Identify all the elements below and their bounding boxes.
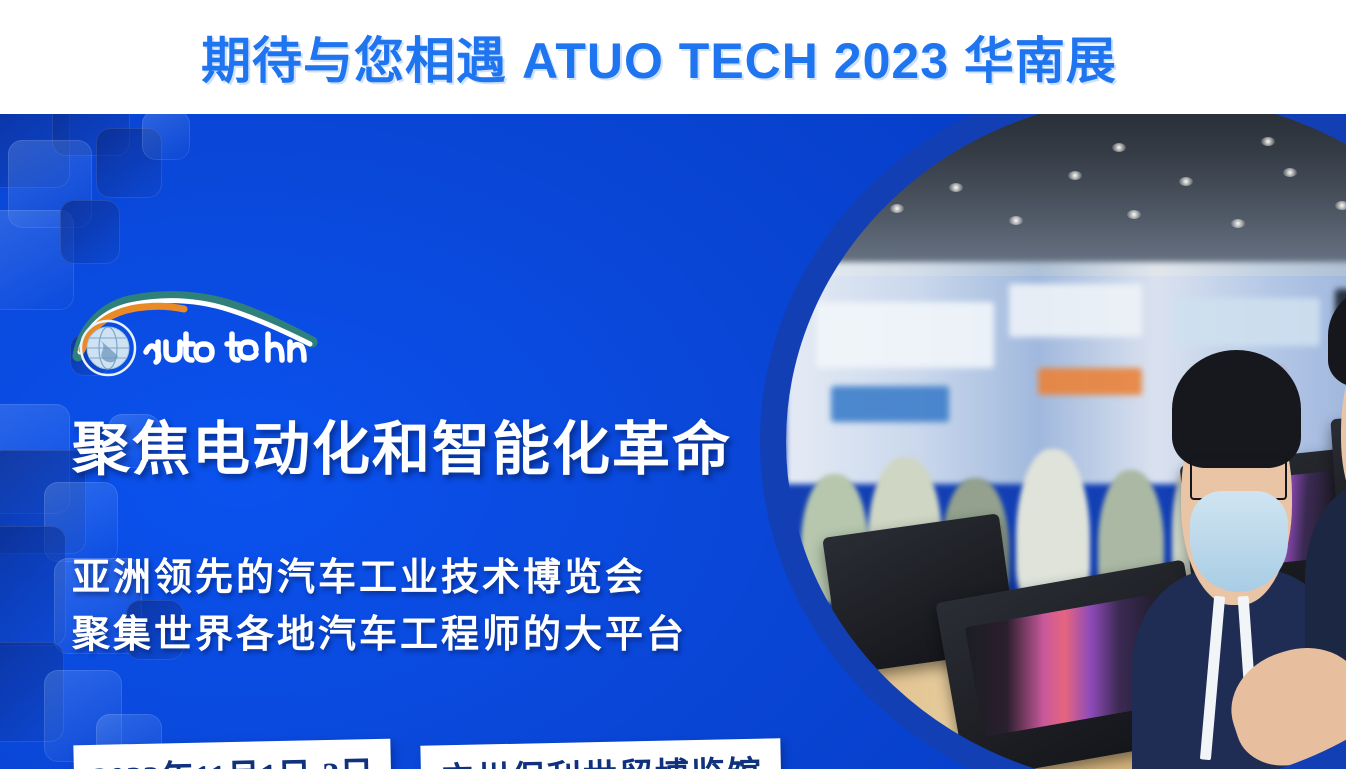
- decorative-square: [142, 114, 190, 160]
- photo-face-mask: [1190, 491, 1288, 591]
- subtitle-line-1: 亚洲领先的汽车工业技术博览会: [72, 550, 687, 607]
- auto-tech-logo: [72, 286, 322, 390]
- globe-icon: [81, 321, 135, 375]
- exhibition-photo: [786, 114, 1346, 769]
- venue-badge: 广州保利世贸博览馆: [421, 738, 782, 769]
- photo-hair: [1172, 350, 1301, 469]
- logo-wordmark: [146, 334, 304, 362]
- poster-root: 期待与您相遇 ATUO TECH 2023 华南展: [0, 0, 1346, 769]
- page-title: 聚焦电动化和智能化革命: [72, 402, 732, 486]
- subtitle-group: 亚洲领先的汽车工业技术博览会 聚集世界各地汽车工程师的大平台: [72, 550, 687, 664]
- photo-ceiling-lights: [786, 114, 1346, 262]
- photo-visitor-cap: [1305, 276, 1346, 705]
- photo-frame: [786, 114, 1346, 769]
- info-badges: 2023年11月1日-3日 广州保利世贸博览馆: [74, 742, 781, 769]
- date-badge: 2023年11月1日-3日: [73, 739, 392, 769]
- banner-body: 聚焦电动化和智能化革命 亚洲领先的汽车工业技术博览会 聚集世界各地汽车工程师的大…: [0, 114, 1346, 769]
- photo-cap: [1328, 284, 1346, 387]
- decorative-square: [60, 200, 120, 264]
- header-title: 期待与您相遇 ATUO TECH 2023 华南展: [201, 21, 1117, 93]
- header-band: 期待与您相遇 ATUO TECH 2023 华南展: [0, 0, 1346, 114]
- subtitle-line-2: 聚集世界各地汽车工程师的大平台: [72, 607, 687, 664]
